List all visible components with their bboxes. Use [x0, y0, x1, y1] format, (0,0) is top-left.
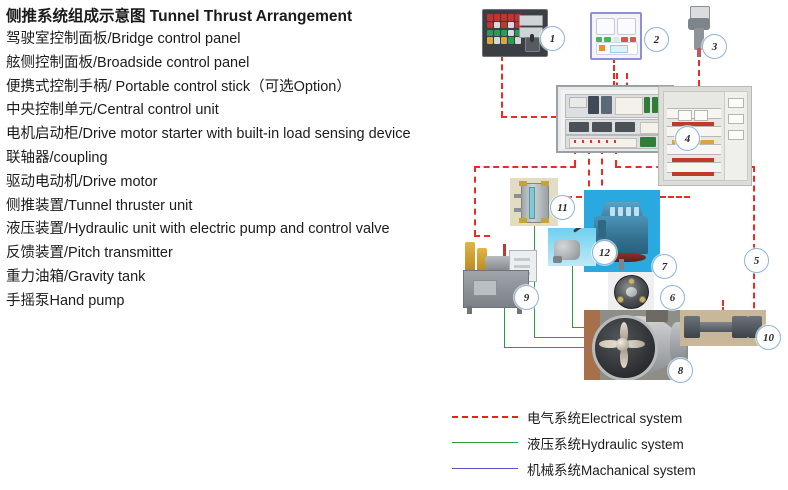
- broadside-screen-right: [617, 18, 636, 35]
- page-title: 侧推系统组成示意图 Tunnel Thrust Arrangement: [6, 6, 456, 28]
- panel-display-upper: [519, 15, 543, 26]
- badge-12: 12: [592, 240, 617, 265]
- hand-pump-outlet: [553, 256, 562, 263]
- stick-cable-tip: [697, 48, 701, 57]
- connector-electrical-4-out-c: [601, 148, 603, 196]
- list-item-bridge-control-panel: 驾驶室控制面板/Bridge control panel: [6, 28, 456, 52]
- hydraulic-pump-motor: [485, 256, 511, 270]
- connector-hydraulic-9-to-8: [504, 347, 588, 348]
- component-hand-pump[interactable]: [548, 228, 596, 266]
- panel-joystick-icon[interactable]: [525, 37, 540, 52]
- legend-row-hydraulic: 液压系统Hydraulic system: [452, 430, 782, 456]
- cabinet-shelf-bottom: [565, 135, 665, 149]
- hand-pump-lever[interactable]: [573, 228, 590, 233]
- panel-keypad: [487, 14, 521, 44]
- component-drive-motor-starter[interactable]: [658, 86, 752, 186]
- badge-6: 6: [660, 285, 685, 310]
- badge-11: 11: [550, 195, 575, 220]
- cabinet-shelf-top: [565, 94, 665, 118]
- broadside-lower-controls[interactable]: [596, 42, 638, 55]
- badge-8: 8: [668, 358, 693, 383]
- broadside-screen-left: [596, 18, 615, 35]
- component-coupling[interactable]: [608, 272, 654, 310]
- list-item-portable-control-stick: 便携式控制手柄/ Portable control stick（可选Option…: [6, 76, 456, 100]
- coupling-hub: [614, 275, 649, 309]
- cabinet-shelf-middle: [565, 119, 665, 135]
- cabinet-interior: [561, 90, 669, 148]
- list-item-drive-motor-starter: 电机启动柜/Drive motor starter with built-in …: [6, 123, 456, 147]
- gravity-tank-body: [521, 183, 549, 223]
- connector-hydraulic-11-to-8: [534, 337, 586, 338]
- badge-10: 10: [756, 325, 781, 350]
- transmitter-bracket-left: [684, 316, 700, 338]
- badge-2: 2: [644, 27, 669, 52]
- connector-electrical-5-in: [660, 196, 690, 198]
- transmitter-bracket-right: [732, 316, 748, 338]
- diagram-page: 侧推系统组成示意图 Tunnel Thrust Arrangement 驾驶室控…: [0, 0, 788, 490]
- badge-3: 3: [702, 34, 727, 59]
- component-central-control-unit[interactable]: [556, 85, 674, 153]
- badge-1: 1: [540, 26, 565, 51]
- list-item-gravity-tank: 重力油箱/Gravity tank: [6, 266, 456, 290]
- hydraulic-nameplate: [473, 280, 497, 296]
- hydraulic-filter-a: [465, 242, 475, 272]
- thruster-propeller-ring: [592, 315, 658, 380]
- thruster-mount: [646, 310, 668, 322]
- legend-row-mechanical: 机械系统Machanical system: [452, 456, 782, 482]
- arrangement-diagram: 1 2 3: [456, 0, 788, 400]
- legend-label-hydraulic: 液压系统Hydraulic system: [527, 433, 684, 453]
- list-item-broadside-control-panel: 舷侧控制面板/Broadside control panel: [6, 52, 456, 76]
- component-bridge-control-panel[interactable]: [482, 9, 548, 57]
- list-item-coupling: 联轴器/coupling: [6, 147, 456, 171]
- motor-shaft: [619, 259, 624, 270]
- component-pitch-transmitter[interactable]: [680, 310, 766, 346]
- legend: 电气系统Electrical system 液压系统Hydraulic syst…: [452, 404, 782, 482]
- legend-label-electrical: 电气系统Electrical system: [527, 407, 682, 427]
- list-item-drive-motor: 驱动电动机/Drive motor: [6, 171, 456, 195]
- legend-label-mechanical: 机械系统Machanical system: [527, 459, 696, 479]
- connector-hydraulic-12-down: [572, 266, 573, 328]
- badge-5: 5: [744, 248, 769, 273]
- connector-electrical-left-down: [474, 166, 476, 236]
- badge-4: 4: [675, 126, 700, 151]
- starter-side-panel: [724, 91, 748, 181]
- component-broadside-control-panel[interactable]: [590, 12, 642, 60]
- badge-9: 9: [514, 285, 539, 310]
- list-item-pitch-transmitter: 反馈装置/Pitch transmitter: [6, 242, 456, 266]
- connector-electrical-right-down: [753, 166, 755, 318]
- legend-row-electrical: 电气系统Electrical system: [452, 404, 782, 430]
- motor-terminal-box: [598, 220, 606, 238]
- list-item-hand-pump: 手摇泵Hand pump: [6, 290, 456, 314]
- list-item-central-control-unit: 中央控制单元/Central control unit: [6, 99, 456, 123]
- connector-electrical-left-bus: [474, 166, 576, 168]
- gravity-tank-sight-glass: [529, 187, 535, 219]
- list-item-tunnel-thruster-unit: 侧推装置/Tunnel thruster unit: [6, 195, 456, 219]
- connector-electrical-1-down: [501, 55, 503, 117]
- list-item-hydraulic-unit: 液压装置/Hydraulic unit with electric pump a…: [6, 218, 456, 242]
- connector-electrical-2-down: [613, 57, 615, 87]
- badge-7: 7: [652, 254, 677, 279]
- component-list: 侧推系统组成示意图 Tunnel Thrust Arrangement 驾驶室控…: [6, 6, 456, 314]
